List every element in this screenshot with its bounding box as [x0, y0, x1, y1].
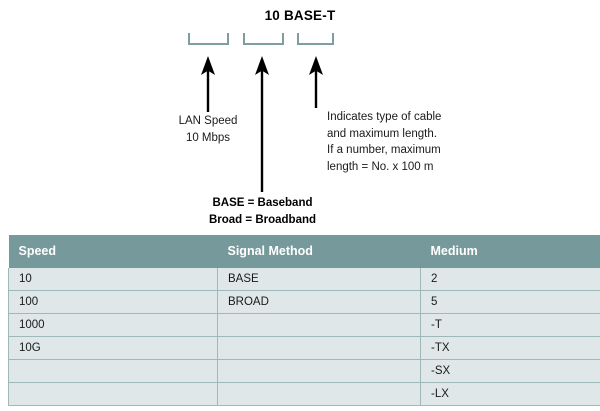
cell-medium: -T [421, 314, 600, 337]
cell-medium: -SX [421, 360, 600, 383]
naming-convention-diagram: 10 BASE-T LAN Speed 10 Mbps Indicates ty… [0, 0, 600, 232]
annotation-cable-type-line-4: length = No. x 100 m [327, 159, 441, 176]
table-row: 10 BASE 2 [9, 268, 600, 291]
annotation-signal-method: BASE = Baseband Broad = Broadband [150, 195, 375, 229]
annotation-cable-type-line-2: and maximum length. [327, 126, 441, 143]
cell-speed: 1000 [9, 314, 218, 337]
column-header-signal-method: Signal Method [218, 235, 421, 268]
cell-speed: 10 [9, 268, 218, 291]
table-header-row: Speed Signal Method Medium [9, 235, 600, 268]
ethernet-naming-table: Speed Signal Method Medium 10 BASE 2 100… [8, 235, 600, 406]
annotation-cable-type: Indicates type of cable and maximum leng… [327, 109, 441, 175]
table-row: 10G -TX [9, 337, 600, 360]
cell-speed [9, 383, 218, 406]
cell-signal-method [218, 314, 421, 337]
cell-signal-method [218, 360, 421, 383]
cell-signal-method: BASE [218, 268, 421, 291]
table-header: Speed Signal Method Medium [9, 235, 600, 268]
table-row: 1000 -T [9, 314, 600, 337]
table-body: 10 BASE 2 100 BROAD 5 1000 -T 10G -TX [9, 268, 600, 406]
column-header-speed: Speed [9, 235, 218, 268]
annotation-cable-type-line-1: Indicates type of cable [327, 109, 441, 126]
annotation-lan-speed-line-2: 10 Mbps [160, 130, 256, 147]
annotation-lan-speed: LAN Speed 10 Mbps [160, 113, 256, 146]
cell-speed: 10G [9, 337, 218, 360]
cell-medium: 5 [421, 291, 600, 314]
table-row: -SX [9, 360, 600, 383]
annotation-signal-method-line-1: BASE = Baseband [150, 195, 375, 212]
bracket-medium-segment [297, 33, 334, 45]
cell-signal-method [218, 383, 421, 406]
cell-speed [9, 360, 218, 383]
annotation-cable-type-line-3: If a number, maximum [327, 142, 441, 159]
arrow-up-medium-icon [307, 56, 325, 108]
cell-signal-method [218, 337, 421, 360]
cell-medium: -LX [421, 383, 600, 406]
cell-medium: -TX [421, 337, 600, 360]
cell-medium: 2 [421, 268, 600, 291]
bracket-speed-segment [188, 33, 229, 45]
page-title: 10 BASE-T [0, 8, 600, 23]
column-header-medium-label: Medium [431, 244, 478, 258]
bracket-signal-segment [243, 33, 284, 45]
table-row: 100 BROAD 5 [9, 291, 600, 314]
column-header-medium: Medium [421, 235, 600, 268]
arrow-up-speed-icon [199, 56, 217, 112]
annotation-signal-method-line-2: Broad = Broadband [150, 212, 375, 229]
spec-table-container: Speed Signal Method Medium 10 BASE 2 100… [8, 235, 592, 406]
cell-speed: 100 [9, 291, 218, 314]
annotation-lan-speed-line-1: LAN Speed [160, 113, 256, 130]
table-row: -LX [9, 383, 600, 406]
cell-signal-method: BROAD [218, 291, 421, 314]
